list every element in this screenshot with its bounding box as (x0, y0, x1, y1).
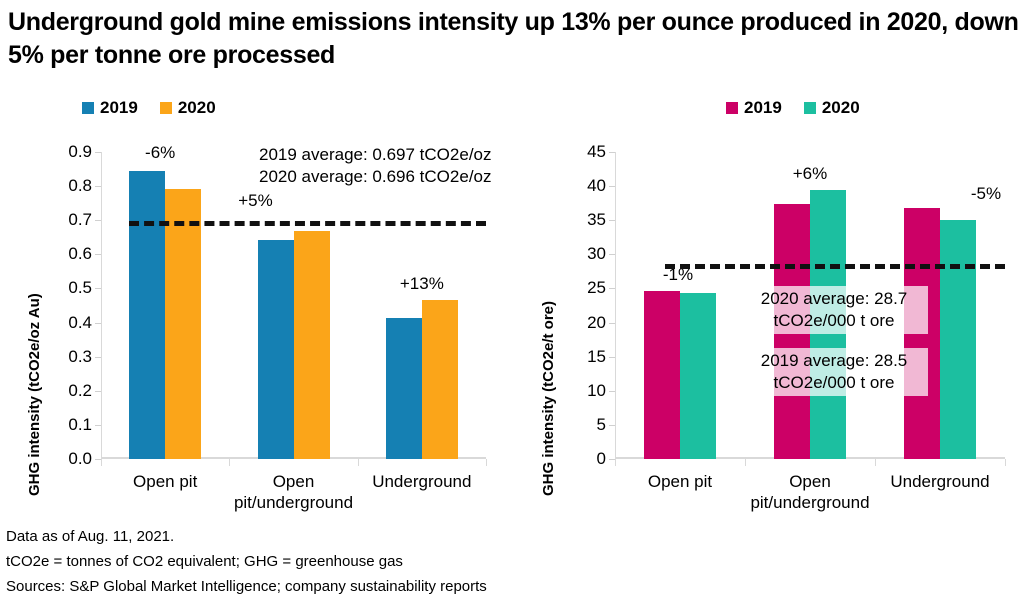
average-annotation-left: 2019 average: 0.697 tCO2e/oz2020 average… (259, 144, 492, 188)
average-annotation-right: 2019 average: 28.5tCO2e/000 t ore (740, 348, 928, 396)
x-axis-label-line: Open (750, 471, 869, 492)
y-tick-mark (609, 152, 615, 153)
bar-group (129, 152, 201, 459)
y-tick-label: 0.3 (68, 347, 92, 367)
category-separator (745, 459, 746, 466)
y-tick-label: 0.0 (68, 449, 92, 469)
bar-group (644, 152, 716, 459)
y-tick-label: 0.4 (68, 313, 92, 333)
legend-item-2020: 2020 (160, 98, 216, 118)
category-separator (875, 459, 876, 466)
change-label: -5% (971, 184, 1001, 204)
y-tick-mark (95, 323, 101, 324)
x-axis-label: Underground (372, 471, 471, 492)
annotation-line: 2019 average: 0.697 tCO2e/oz (259, 144, 492, 166)
y-tick-label: 15 (587, 347, 606, 367)
bar-2020 (680, 293, 716, 459)
legend-label-2019: 2019 (100, 98, 138, 118)
x-axis-label-line: pit/underground (234, 492, 353, 513)
annotation-line: 2020 average: 28.7 (744, 288, 924, 310)
change-label: +6% (793, 164, 828, 184)
legend-right: 2019 2020 (726, 98, 860, 118)
average-line (665, 264, 1005, 269)
change-label: +13% (400, 274, 444, 294)
y-tick-label: 5 (597, 415, 606, 435)
category-separator (486, 459, 487, 466)
bar-2020 (422, 300, 458, 459)
y-tick-label: 30 (587, 244, 606, 264)
legend-label-2019: 2019 (744, 98, 782, 118)
y-tick-mark (95, 220, 101, 221)
footer: Data as of Aug. 11, 2021. tCO2e = tonnes… (6, 524, 487, 599)
y-tick-label: 0.9 (68, 142, 92, 162)
annotation-line: tCO2e/000 t ore (744, 372, 924, 394)
bar-2019 (644, 291, 680, 459)
bar-2019 (386, 318, 422, 459)
x-axis-label-line: Open pit (133, 471, 197, 492)
change-label: -6% (145, 143, 175, 163)
y-tick-mark (95, 391, 101, 392)
legend-item-2020: 2020 (804, 98, 860, 118)
x-axis-label: Open pit (133, 471, 197, 492)
legend-label-2020: 2020 (822, 98, 860, 118)
bar-2020 (940, 220, 976, 459)
footer-line-1: Data as of Aug. 11, 2021. (6, 524, 487, 549)
y-tick-mark (609, 254, 615, 255)
change-label: +5% (238, 191, 273, 211)
y-tick-mark (609, 288, 615, 289)
annotation-line: tCO2e/000 t ore (744, 310, 924, 332)
category-separator (358, 459, 359, 466)
x-axis-label: Open pit (648, 471, 712, 492)
category-separator (1005, 459, 1006, 466)
y-tick-mark (609, 186, 615, 187)
y-tick-label: 25 (587, 278, 606, 298)
category-separator (229, 459, 230, 466)
plot-area-right: 051015202530354045-1%Open pit+6%Openpit/… (615, 152, 1005, 459)
y-tick-mark (609, 425, 615, 426)
y-tick-mark (95, 288, 101, 289)
x-axis-label-line: Underground (372, 471, 471, 492)
y-tick-label: 0.2 (68, 381, 92, 401)
y-tick-label: 0.5 (68, 278, 92, 298)
y-tick-mark (609, 323, 615, 324)
y-tick-label: 0 (597, 449, 606, 469)
annotation-line: 2020 average: 0.696 tCO2e/oz (259, 166, 492, 188)
category-separator (101, 459, 102, 466)
chart-per-ounce: 2019 2020 GHG intensity (tCO2e/oz Au) 0.… (0, 92, 516, 512)
y-tick-mark (609, 357, 615, 358)
average-line (129, 221, 486, 226)
y-axis-title-left: GHG intensity (tCO2e/oz Au) (26, 293, 43, 496)
legend-label-2020: 2020 (178, 98, 216, 118)
y-tick-label: 45 (587, 142, 606, 162)
chart-per-tonne-ore: 2019 2020 GHG intensity (tCO2e/t ore) 05… (516, 92, 1035, 512)
legend-item-2019: 2019 (82, 98, 138, 118)
y-axis-line-left (101, 152, 102, 459)
category-separator (615, 459, 616, 466)
bar-2020 (165, 189, 201, 460)
y-axis-title-right: GHG intensity (tCO2e/t ore) (540, 301, 557, 496)
y-tick-label: 40 (587, 176, 606, 196)
legend-swatch-2019 (82, 102, 94, 114)
annotation-line: 2019 average: 28.5 (744, 350, 924, 372)
bar-group (386, 152, 458, 459)
y-tick-label: 0.8 (68, 176, 92, 196)
y-axis-line-right (615, 152, 616, 459)
x-axis-label-line: pit/underground (750, 492, 869, 513)
y-tick-mark (95, 425, 101, 426)
x-axis-label: Openpit/underground (750, 471, 869, 513)
footer-line-3: Sources: S&P Global Market Intelligence;… (6, 574, 487, 599)
bar-2019 (258, 240, 294, 459)
x-axis-label-line: Underground (890, 471, 989, 492)
bar-2020 (294, 231, 330, 459)
average-annotation-right: 2020 average: 28.7tCO2e/000 t ore (740, 286, 928, 334)
x-axis-label: Openpit/underground (234, 471, 353, 513)
y-tick-mark (609, 391, 615, 392)
footer-line-2: tCO2e = tonnes of CO2 equivalent; GHG = … (6, 549, 487, 574)
legend-item-2019: 2019 (726, 98, 782, 118)
x-axis-label-line: Open (234, 471, 353, 492)
y-tick-mark (95, 357, 101, 358)
y-tick-mark (609, 220, 615, 221)
y-tick-mark (95, 254, 101, 255)
legend-left: 2019 2020 (82, 98, 216, 118)
bar-2019 (129, 171, 165, 459)
plot-area-left: 0.00.10.20.30.40.50.60.70.80.9-6%Open pi… (101, 152, 486, 459)
legend-swatch-2020 (160, 102, 172, 114)
y-tick-mark (95, 186, 101, 187)
x-axis-label: Underground (890, 471, 989, 492)
y-tick-mark (95, 152, 101, 153)
legend-swatch-2020 (804, 102, 816, 114)
y-tick-label: 0.6 (68, 244, 92, 264)
legend-swatch-2019 (726, 102, 738, 114)
y-tick-label: 0.7 (68, 210, 92, 230)
y-tick-label: 10 (587, 381, 606, 401)
x-axis-label-line: Open pit (648, 471, 712, 492)
page-title: Underground gold mine emissions intensit… (8, 6, 1028, 72)
y-tick-label: 20 (587, 313, 606, 333)
y-tick-label: 35 (587, 210, 606, 230)
y-tick-label: 0.1 (68, 415, 92, 435)
